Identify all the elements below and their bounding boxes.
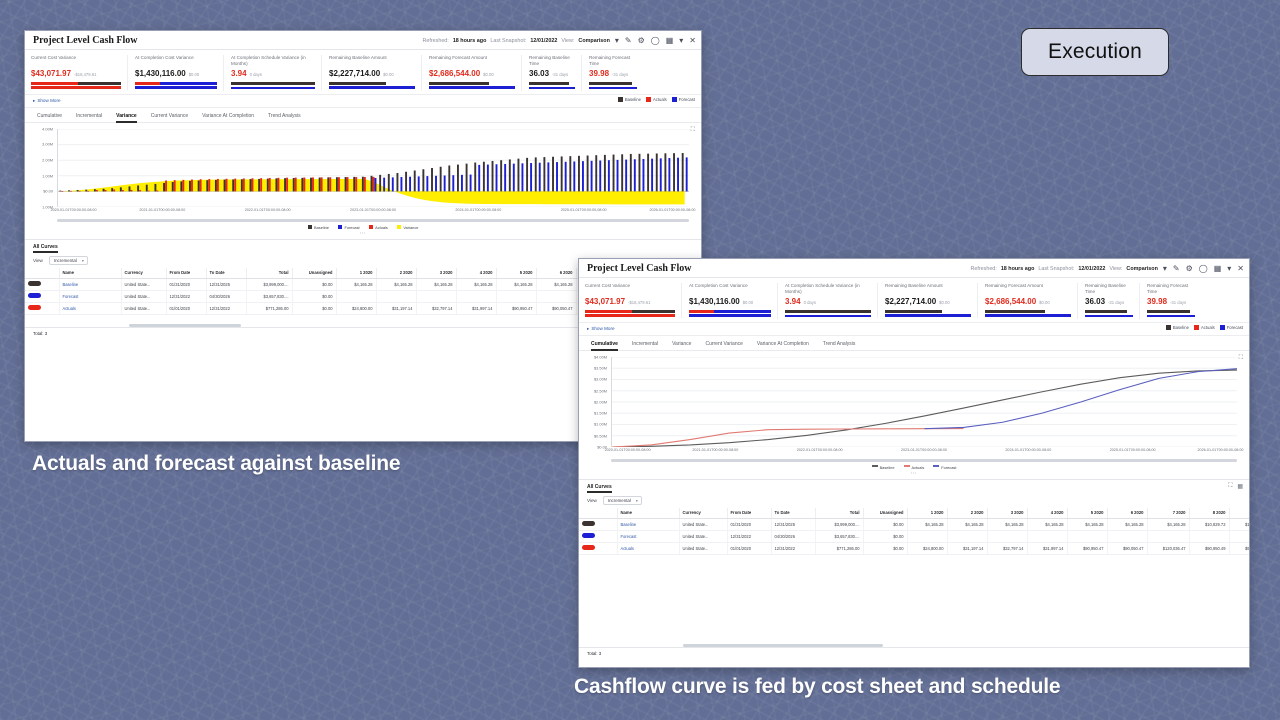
edit-pencil-icon[interactable]: ✎ bbox=[624, 37, 633, 45]
table-column-header[interactable]: Name bbox=[617, 508, 679, 519]
caption-right: Cashflow curve is fed by cost sheet and … bbox=[574, 675, 1060, 699]
x-tick: 2026-01-01T00:00:00-08:00 bbox=[649, 208, 695, 212]
chart-cumulative-overflow-dots: ⋯ bbox=[579, 472, 1249, 479]
all-curves-header: All Curves ⛶ ▦ bbox=[579, 480, 1249, 492]
app-window-front[interactable]: Project Level Cash Flow Refreshed: 18 ho… bbox=[578, 258, 1250, 668]
show-more-label: Show More bbox=[37, 98, 60, 103]
legend-item[interactable]: Baseline bbox=[308, 225, 329, 230]
kpi-label: At Completion Cost Variance bbox=[689, 283, 771, 294]
table-column-header[interactable]: From Date bbox=[727, 508, 771, 519]
row-month-value bbox=[1107, 530, 1147, 542]
kpi-bar bbox=[985, 310, 1071, 313]
chart-cumulative-svg bbox=[612, 357, 1237, 447]
chart-cumulative-canvas bbox=[611, 357, 1237, 447]
kpi-bar bbox=[689, 314, 771, 317]
row-month-value bbox=[1229, 530, 1249, 542]
table-column-header[interactable]: 3 2020 bbox=[416, 268, 456, 279]
x-tick: 2021-01-01T00:00:00-08:00 bbox=[139, 208, 185, 212]
row-month-value: $4,165.28 bbox=[1147, 518, 1189, 530]
kpi-value: $43,071.97 bbox=[31, 69, 71, 78]
print-icon[interactable]: ⚙ bbox=[1185, 265, 1194, 273]
kpi-value: 3.94 bbox=[231, 69, 247, 78]
all-curves-title: All Curves bbox=[587, 484, 612, 490]
x-tick: 2024-01-01T00:00:00-08:00 bbox=[455, 208, 501, 212]
chart-cumulative-plot: $4.00M$3.50M$3.00M$2.50M$2.00M$1.50M$1.0… bbox=[587, 357, 1241, 447]
y-tick: $2.50M bbox=[594, 388, 607, 393]
kpi-card: Remaining Forecast Amount$2,686,544.00$0… bbox=[977, 283, 1077, 318]
chart-variance: ⛶ 4.00M3.00M2.00M1.00M$0.001.00M 2020-01… bbox=[25, 123, 701, 232]
kpi-bars bbox=[31, 82, 121, 89]
kpi-label: Remaining Forecast Amount bbox=[985, 283, 1071, 294]
tab-variance-at-completion[interactable]: Variance At Completion bbox=[757, 341, 809, 350]
snapshot-value: 12/01/2022 bbox=[1078, 266, 1105, 272]
row-name[interactable]: Actuals bbox=[59, 302, 121, 314]
row-swatch bbox=[25, 290, 59, 302]
chart-variance-overflow-dots: ⋯ bbox=[25, 232, 701, 239]
row-currency: United State... bbox=[679, 518, 727, 530]
kpi-card: Remaining Forecast Time39.98-31 days bbox=[581, 55, 643, 91]
table-column-header[interactable]: To Date bbox=[206, 268, 246, 279]
chevron-down-icon: ▾ bbox=[636, 499, 638, 503]
kpi-label: Remaining Baseline Time bbox=[1085, 283, 1133, 294]
table-column-header[interactable]: 3 2020 bbox=[987, 508, 1027, 519]
kpi-delta: 0 days bbox=[804, 300, 816, 305]
row-month-value bbox=[907, 530, 947, 542]
legend-item[interactable]: Forecast bbox=[338, 225, 360, 230]
kpi-bar bbox=[885, 310, 971, 313]
chart-variance-x-axis: 2020-01-01T00:00:00-08:002021-01-01T00:0… bbox=[57, 207, 689, 218]
table-row[interactable]: BaselineUnited State...01/31/202012/31/2… bbox=[579, 518, 1249, 530]
row-swatch bbox=[579, 530, 617, 542]
kpi-bars bbox=[885, 310, 971, 317]
execution-badge: Execution bbox=[1021, 28, 1169, 76]
row-month-value: $90,950.47 bbox=[496, 302, 536, 314]
kpi-bar bbox=[529, 87, 575, 90]
tab-trend-analysis[interactable]: Trend Analysis bbox=[823, 341, 856, 350]
row-unassigned: $0.00 bbox=[863, 542, 907, 554]
window-toolbar[interactable]: Refreshed: 18 hours ago Last Snapshot: 1… bbox=[970, 259, 1245, 278]
chart-variance-plot: 4.00M3.00M2.00M1.00M$0.001.00M bbox=[33, 129, 693, 207]
kpi-bar bbox=[1147, 315, 1195, 318]
kpi-bar bbox=[135, 82, 217, 85]
row-total: $3,999,000.... bbox=[815, 518, 863, 530]
refresh-icon[interactable]: ◯ bbox=[1198, 265, 1209, 273]
chart-cumulative-x-axis: 2020-01-01T00:00:00-08:002021-01-01T00:0… bbox=[611, 447, 1237, 458]
window-title-bar: Project Level Cash Flow Refreshed: 18 ho… bbox=[579, 259, 1249, 278]
row-from-date: 12/31/2022 bbox=[166, 290, 206, 302]
caption-left: Actuals and forecast against baseline bbox=[32, 452, 400, 476]
window-title: Project Level Cash Flow bbox=[579, 263, 692, 274]
row-month-value: $24,800.00 bbox=[907, 542, 947, 554]
view-mode-select[interactable]: Incremental ▾ bbox=[49, 256, 88, 265]
snapshot-value: 12/01/2022 bbox=[530, 38, 557, 44]
table-column-header[interactable] bbox=[579, 508, 617, 519]
tab-variance[interactable]: Variance bbox=[116, 113, 137, 122]
row-month-value: $12,495.83 bbox=[1229, 518, 1249, 530]
snapshot-label: Last Snapshot: bbox=[1038, 266, 1074, 272]
tab-cumulative[interactable]: Cumulative bbox=[591, 341, 618, 350]
row-month-value bbox=[336, 290, 376, 302]
kpi-bar bbox=[785, 315, 871, 318]
show-more-label: Show More bbox=[591, 326, 614, 331]
kpi-card: Remaining Forecast Amount$2,686,544.00$0… bbox=[421, 55, 521, 90]
legend-chip: Actuals bbox=[1194, 325, 1215, 330]
row-month-value: $32,797.14 bbox=[987, 542, 1027, 554]
row-to-date: 12/31/2025 bbox=[771, 518, 815, 530]
kpi-card: At Completion Cost Variance$1,430,116.00… bbox=[681, 283, 777, 318]
kpi-bar bbox=[589, 82, 637, 85]
chevron-right-icon: ▸ bbox=[587, 326, 589, 332]
show-more-toggle[interactable]: ▸ Show More BaselineActualsForecast bbox=[579, 323, 1249, 336]
kpi-bar bbox=[1085, 310, 1133, 313]
row-name[interactable]: Forecast bbox=[617, 530, 679, 542]
row-month-value bbox=[1147, 530, 1189, 542]
tab-variance[interactable]: Variance bbox=[672, 341, 691, 350]
all-curves-actions[interactable]: ⛶ ▦ bbox=[1228, 483, 1243, 490]
x-tick: 2024-01-01T00:00:00-08:00 bbox=[1005, 448, 1051, 452]
y-tick: 4.00M bbox=[42, 126, 53, 131]
row-month-value: $4,165.28 bbox=[947, 518, 987, 530]
tab-incremental[interactable]: Incremental bbox=[632, 341, 658, 350]
kpi-bars bbox=[585, 310, 675, 317]
kpi-label: Current Cost Variance bbox=[31, 55, 121, 66]
row-month-value: $4,165.28 bbox=[376, 278, 416, 290]
table-column-header[interactable]: 1 2020 bbox=[907, 508, 947, 519]
view-value[interactable]: Comparison bbox=[1126, 266, 1157, 272]
kpi-card: At Completion Schedule Variance (in Mont… bbox=[223, 55, 321, 91]
kpi-label: Remaining Baseline Amount bbox=[885, 283, 971, 294]
table-column-header[interactable]: Total bbox=[246, 268, 292, 279]
kpi-bar bbox=[329, 86, 415, 89]
refreshed-value: 18 hours ago bbox=[1001, 266, 1035, 272]
kpi-bar bbox=[429, 82, 515, 85]
all-curves-header: All Curves bbox=[25, 240, 701, 252]
y-tick: $2.00M bbox=[594, 399, 607, 404]
row-month-value bbox=[987, 530, 1027, 542]
row-month-value: $31,197.14 bbox=[376, 302, 416, 314]
x-tick: 2025-01-01T00:00:00-08:00 bbox=[561, 208, 607, 212]
kpi-bar bbox=[329, 82, 415, 85]
edit-pencil-icon[interactable]: ✎ bbox=[1172, 265, 1181, 273]
kpi-bar bbox=[689, 310, 771, 313]
chart-cumulative-legend: BaselineActualsForecast bbox=[587, 462, 1241, 470]
refreshed-value: 18 hours ago bbox=[453, 38, 487, 44]
x-tick: 2022-01-01T00:00:00-08:00 bbox=[797, 448, 843, 452]
kpi-bars bbox=[329, 82, 415, 89]
table-column-header[interactable]: 2 2020 bbox=[376, 268, 416, 279]
kpi-value: $2,227,714.00 bbox=[885, 297, 936, 306]
x-tick: 2026-01-01T00:00:00-08:00 bbox=[1197, 448, 1243, 452]
row-currency: United State... bbox=[121, 290, 166, 302]
chevron-right-icon: ▸ bbox=[33, 98, 35, 104]
row-month-value: $4,165.28 bbox=[987, 518, 1027, 530]
kpi-card: Remaining Baseline Amount$2,227,714.00$0… bbox=[321, 55, 421, 90]
curves-table[interactable]: NameCurrencyFrom DateTo DateTotalUnassig… bbox=[579, 508, 1249, 555]
table-column-header[interactable]: 7 2020 bbox=[1147, 508, 1189, 519]
refresh-icon[interactable]: ◯ bbox=[650, 37, 661, 45]
row-month-value: $90,050.47 bbox=[1107, 542, 1147, 554]
kpi-bar bbox=[135, 86, 217, 89]
legend-chip: Forecast bbox=[672, 97, 695, 102]
row-swatch bbox=[579, 542, 617, 554]
kpi-delta: $0.00 bbox=[1039, 300, 1049, 305]
view-value[interactable]: Comparison bbox=[578, 38, 609, 44]
row-name[interactable]: Baseline bbox=[59, 278, 121, 290]
kpi-card: Remaining Baseline Time36.03-31 days bbox=[521, 55, 581, 91]
table-column-header[interactable]: 8 2020 bbox=[1189, 508, 1229, 519]
kpi-bar bbox=[31, 82, 121, 85]
row-currency: United State... bbox=[679, 530, 727, 542]
kpi-bars bbox=[529, 82, 575, 89]
table-column-header[interactable]: Currency bbox=[679, 508, 727, 519]
y-tick: $0.00 bbox=[43, 189, 53, 194]
chevron-down-icon[interactable]: ▾ bbox=[1162, 265, 1168, 273]
kpi-delta: $0.00 bbox=[483, 72, 493, 77]
table-column-header[interactable]: 5 2020 bbox=[1067, 508, 1107, 519]
table-column-header[interactable]: 5 2020 bbox=[496, 268, 536, 279]
chart-cumulative-hscrollbar[interactable] bbox=[611, 459, 1237, 462]
row-month-value: $32,797.14 bbox=[416, 302, 456, 314]
kpi-delta: -31 days bbox=[1108, 300, 1124, 305]
row-name[interactable]: Forecast bbox=[59, 290, 121, 302]
table-column-header[interactable]: Currency bbox=[121, 268, 166, 279]
kpi-bars bbox=[985, 310, 1071, 317]
grid-icon[interactable]: ▦ bbox=[1237, 483, 1243, 490]
legend-chip: Forecast bbox=[1220, 325, 1243, 330]
kpi-label: Remaining Forecast Time bbox=[1147, 283, 1195, 294]
row-month-value: $94,553.33 bbox=[1229, 542, 1249, 554]
delete-icon[interactable]: ▦ bbox=[1213, 265, 1223, 273]
row-swatch bbox=[25, 302, 59, 314]
table-column-header[interactable]: From Date bbox=[166, 268, 206, 279]
y-tick: 1.00M bbox=[42, 173, 53, 178]
row-month-value: $4,165.28 bbox=[456, 278, 496, 290]
x-tick: 2023-01-01T00:00:00-08:00 bbox=[901, 448, 947, 452]
chart-variance-canvas bbox=[57, 129, 689, 207]
show-more-toggle[interactable]: ▸ Show More BaselineActualsForecast bbox=[25, 95, 701, 108]
kpi-delta: -$18,479.61 bbox=[628, 300, 650, 305]
kpi-bar bbox=[31, 86, 121, 89]
row-to-date: 04/30/2026 bbox=[771, 530, 815, 542]
all-curves-table-front: All Curves ⛶ ▦ View Incremental ▾ Nam bbox=[579, 479, 1249, 659]
tab-incremental[interactable]: Incremental bbox=[76, 113, 102, 122]
kpi-label: Remaining Forecast Time bbox=[589, 55, 637, 66]
table-column-header[interactable]: 6 2020 bbox=[1107, 508, 1147, 519]
view-row-label: View bbox=[587, 498, 597, 503]
kpi-value: $2,686,544.00 bbox=[985, 297, 1036, 306]
refreshed-label: Refreshed: bbox=[970, 266, 996, 272]
x-tick: 2021-01-01T00:00:00-08:00 bbox=[692, 448, 738, 452]
tab-bar-variance[interactable]: CumulativeIncrementalVarianceCurrent Var… bbox=[25, 108, 701, 123]
row-month-value: $120,036.47 bbox=[1147, 542, 1189, 554]
close-icon[interactable]: ✕ bbox=[1236, 265, 1245, 273]
row-unassigned: $0.00 bbox=[863, 530, 907, 542]
expand-icon[interactable]: ⛶ bbox=[1228, 483, 1232, 490]
y-tick: 2.00M bbox=[42, 158, 53, 163]
row-from-date: 01/31/2020 bbox=[166, 278, 206, 290]
row-month-value: $4,165.28 bbox=[1107, 518, 1147, 530]
window-title: Project Level Cash Flow bbox=[25, 35, 138, 46]
legend-chip: Baseline bbox=[1166, 325, 1189, 330]
kpi-bar bbox=[1085, 315, 1133, 318]
kpi-bar bbox=[585, 314, 675, 317]
refreshed-label: Refreshed: bbox=[422, 38, 448, 44]
y-tick: $1.50M bbox=[594, 411, 607, 416]
chart-variance-legend: BaselineForecastActualsVariance bbox=[33, 222, 693, 230]
tab-current-variance[interactable]: Current Variance bbox=[705, 341, 742, 350]
kpi-card: At Completion Cost Variance$1,430,116.00… bbox=[127, 55, 223, 90]
row-month-value bbox=[1189, 530, 1229, 542]
kpi-bars bbox=[231, 82, 315, 89]
kpi-value: 36.03 bbox=[529, 69, 549, 78]
chevron-down-icon: ▾ bbox=[82, 259, 84, 263]
table-column-header[interactable]: 4 2020 bbox=[1027, 508, 1067, 519]
kpi-bar bbox=[529, 82, 575, 85]
x-tick: 2020-01-01T00:00:00-08:00 bbox=[605, 448, 651, 452]
row-month-value: $4,165.28 bbox=[536, 278, 576, 290]
kpi-value: $2,686,544.00 bbox=[429, 69, 480, 78]
row-month-value bbox=[376, 290, 416, 302]
view-row-label: View bbox=[33, 258, 43, 263]
row-month-value: $31,197.14 bbox=[947, 542, 987, 554]
kpi-bar bbox=[429, 86, 515, 89]
kpi-card: Current Cost Variance$43,071.97-$18,479.… bbox=[31, 55, 127, 90]
row-month-value: $10,829.72 bbox=[1189, 518, 1229, 530]
kpi-delta: -31 days bbox=[1170, 300, 1186, 305]
snapshot-label: Last Snapshot: bbox=[490, 38, 526, 44]
table-row[interactable]: ActualsUnited State...01/01/202012/31/20… bbox=[579, 542, 1249, 554]
row-name[interactable]: Actuals bbox=[617, 542, 679, 554]
x-tick: 2022-01-01T00:00:00-08:00 bbox=[245, 208, 291, 212]
row-month-value: $4,165.28 bbox=[336, 278, 376, 290]
y-tick: $0.50M bbox=[594, 433, 607, 438]
kpi-label: Current Cost Variance bbox=[585, 283, 675, 294]
window-toolbar[interactable]: Refreshed: 18 hours ago Last Snapshot: 1… bbox=[422, 31, 697, 50]
table-column-header[interactable]: 9 2020 bbox=[1229, 508, 1249, 519]
row-unassigned: $0.00 bbox=[863, 518, 907, 530]
chart-variance-svg bbox=[58, 129, 689, 207]
x-tick: 2025-01-01T00:00:00-08:00 bbox=[1110, 448, 1156, 452]
kpi-label: At Completion Schedule Variance (in Mont… bbox=[231, 55, 315, 66]
kpi-bars bbox=[429, 82, 515, 89]
kpi-delta: $0.00 bbox=[383, 72, 393, 77]
overflow-caret-icon[interactable]: ▾ bbox=[1226, 265, 1232, 273]
table-column-header[interactable]: Unassigned bbox=[863, 508, 907, 519]
row-unassigned: $0.00 bbox=[292, 290, 336, 302]
row-total: $3,657,830.... bbox=[246, 290, 292, 302]
kpi-bars bbox=[785, 310, 871, 317]
tab-trend-analysis[interactable]: Trend Analysis bbox=[268, 113, 301, 122]
row-from-date: 01/01/2020 bbox=[727, 542, 771, 554]
table-column-header[interactable]: 4 2020 bbox=[456, 268, 496, 279]
row-from-date: 01/01/2020 bbox=[166, 302, 206, 314]
y-tick: $4.00M bbox=[594, 354, 607, 359]
kpi-label: At Completion Schedule Variance (in Mont… bbox=[785, 283, 871, 294]
kpi-label: Remaining Baseline Amount bbox=[329, 55, 415, 66]
row-total: $771,286.00 bbox=[815, 542, 863, 554]
kpi-card: Remaining Baseline Time36.03-31 days bbox=[1077, 283, 1139, 319]
execution-badge-label: Execution bbox=[1048, 40, 1142, 64]
row-currency: United State... bbox=[679, 542, 727, 554]
chip-legend: BaselineActualsForecast bbox=[1166, 325, 1243, 330]
row-month-value: $4,165.28 bbox=[1027, 518, 1067, 530]
kpi-value: $43,071.97 bbox=[585, 297, 625, 306]
legend-item[interactable]: Actuals bbox=[369, 225, 388, 230]
row-currency: United State... bbox=[121, 278, 166, 290]
table-column-header[interactable] bbox=[25, 268, 59, 279]
table-row[interactable]: ForecastUnited State...12/31/202204/30/2… bbox=[579, 530, 1249, 542]
chart-cumulative: ⛶ $4.00M$3.50M$3.00M$2.50M$2.00M$1.50M$1… bbox=[579, 351, 1249, 472]
row-month-value bbox=[1027, 530, 1067, 542]
close-icon[interactable]: ✕ bbox=[688, 37, 697, 45]
tab-variance-at-completion[interactable]: Variance At Completion bbox=[202, 113, 254, 122]
kpi-bars bbox=[1085, 310, 1133, 317]
print-icon[interactable]: ⚙ bbox=[637, 37, 646, 45]
view-mode-select[interactable]: Incremental ▾ bbox=[603, 496, 642, 505]
overflow-caret-icon[interactable]: ▾ bbox=[678, 37, 684, 45]
table-column-header[interactable]: Total bbox=[815, 508, 863, 519]
row-month-value: $4,165.28 bbox=[496, 278, 536, 290]
row-month-value: $90,950.49 bbox=[1189, 542, 1229, 554]
row-swatch bbox=[579, 518, 617, 530]
tab-current-variance[interactable]: Current Variance bbox=[151, 113, 188, 122]
kpi-bar bbox=[885, 314, 971, 317]
table-column-header[interactable]: Name bbox=[59, 268, 121, 279]
table-column-header[interactable]: Unassigned bbox=[292, 268, 336, 279]
view-label: View: bbox=[561, 38, 574, 44]
kpi-bar bbox=[231, 82, 315, 85]
tab-bar-cumulative[interactable]: CumulativeIncrementalVarianceCurrent Var… bbox=[579, 336, 1249, 351]
row-month-value: $4,165.28 bbox=[416, 278, 456, 290]
row-from-date: 12/31/2022 bbox=[727, 530, 771, 542]
kpi-value: $1,430,116.00 bbox=[135, 69, 186, 78]
row-month-value: $31,997.14 bbox=[1027, 542, 1067, 554]
chart-variance-hscrollbar[interactable] bbox=[57, 219, 689, 222]
kpi-bar bbox=[785, 310, 871, 313]
chevron-down-icon[interactable]: ▾ bbox=[614, 37, 620, 45]
table-column-header[interactable]: 2 2020 bbox=[947, 508, 987, 519]
legend-item[interactable]: Variance bbox=[397, 225, 419, 230]
all-curves-title: All Curves bbox=[33, 244, 58, 250]
row-month-value: $4,165.28 bbox=[907, 518, 947, 530]
view-mode-value: Incremental bbox=[608, 498, 631, 503]
chart-cumulative-y-axis: $4.00M$3.50M$3.00M$2.50M$2.00M$1.50M$1.0… bbox=[587, 357, 609, 447]
table-column-header[interactable]: 1 2020 bbox=[336, 268, 376, 279]
kpi-bars bbox=[589, 82, 637, 89]
kpi-strip: Current Cost Variance$43,071.97-$18,479.… bbox=[579, 278, 1249, 323]
row-to-date: 12/31/2022 bbox=[771, 542, 815, 554]
kpi-delta: -31 days bbox=[552, 72, 568, 77]
chart-variance-y-axis: 4.00M3.00M2.00M1.00M$0.001.00M bbox=[33, 129, 55, 207]
kpi-bar bbox=[1147, 310, 1195, 313]
table-column-header[interactable]: 6 2020 bbox=[536, 268, 576, 279]
y-tick: $1.00M bbox=[594, 422, 607, 427]
legend-item[interactable]: Actuals bbox=[904, 465, 925, 470]
view-mode-value: Incremental bbox=[54, 258, 77, 263]
kpi-bars bbox=[135, 82, 217, 89]
tab-cumulative[interactable]: Cumulative bbox=[37, 113, 62, 122]
row-name[interactable]: Baseline bbox=[617, 518, 679, 530]
delete-icon[interactable]: ▦ bbox=[665, 37, 675, 45]
legend-item[interactable]: Forecast bbox=[933, 465, 956, 470]
kpi-value: 3.94 bbox=[785, 297, 801, 306]
row-month-value: $31,997.14 bbox=[456, 302, 496, 314]
legend-chip: Actuals bbox=[646, 97, 667, 102]
table-column-header[interactable]: To Date bbox=[771, 508, 815, 519]
x-tick: 2023-01-01T00:00:00-08:00 bbox=[350, 208, 396, 212]
kpi-bar bbox=[589, 87, 637, 90]
legend-item[interactable]: Baseline bbox=[872, 465, 895, 470]
